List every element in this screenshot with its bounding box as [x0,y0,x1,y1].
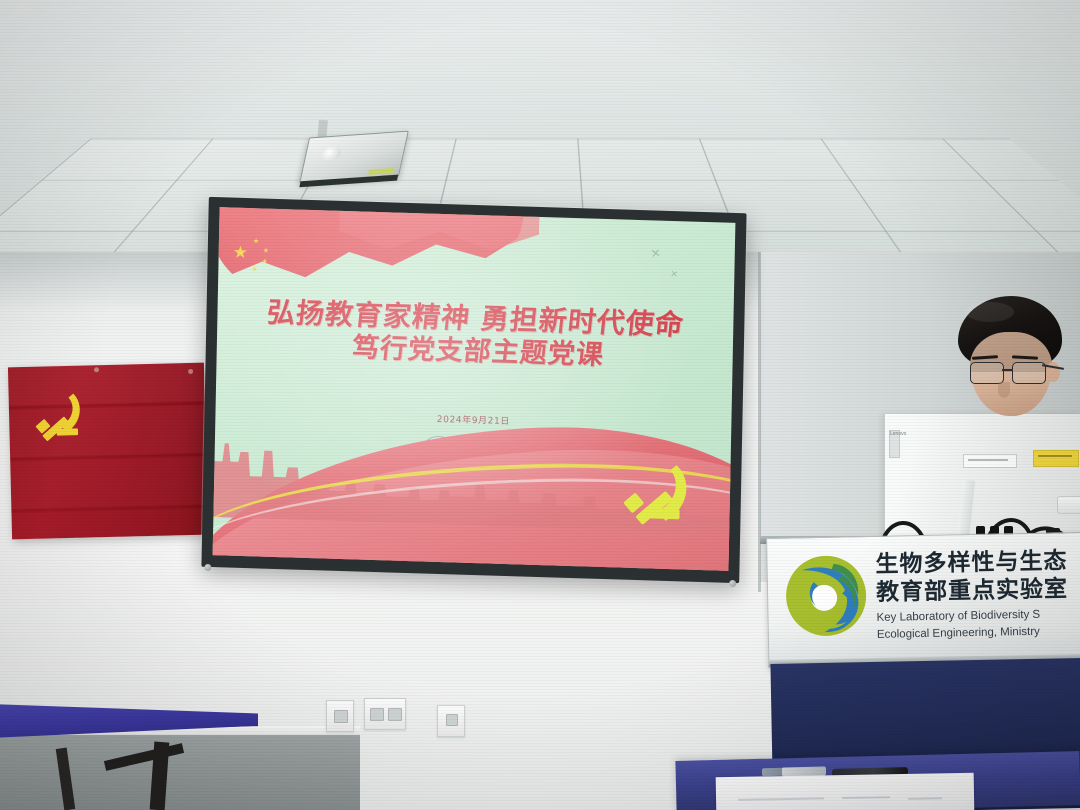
bird-icon: ✕ [650,246,662,261]
lab-name-cn-line1: 生物多样性与生态 [875,546,1080,578]
cpc-party-flag [8,363,208,540]
star-icon: ★ [253,238,259,245]
seated-operator [952,296,1068,428]
projector-label [368,168,394,175]
projection-screen[interactable]: ★ ★ ★ ★ ★ ✕ ✕ 弘扬教育家精神 勇担新时代使命 笃行党支部主题党课 … [201,197,746,583]
lens-right [1012,362,1046,384]
outlet-socket-icon [388,708,402,721]
lab-name-en-line2: Ecological Engineering, Ministry [877,623,1080,643]
glasses-icon [968,362,1052,384]
slide-title: 弘扬教育家精神 勇担新时代使命 笃行党支部主题党课 [217,295,734,376]
white-handout-sheets [716,773,975,810]
brand-tag: Lenovo [889,430,900,458]
power-outlet-plate[interactable] [326,700,354,732]
star-icon: ★ [263,247,269,254]
hammer-and-sickle-icon [30,385,93,448]
screen-mount-bolt [729,580,736,587]
star-icon: ★ [233,244,249,261]
yellow-asset-label [1033,450,1079,467]
lab-name-cn-line2: 教育部重点实验室 [876,575,1080,607]
projector-lens-icon [319,146,342,161]
glasses-bridge [1002,369,1012,371]
paper-text-line [738,797,824,801]
slide-date: 2024年9月21日 [215,405,731,434]
star-icon: ★ [261,258,267,265]
outlet-socket-icon [370,708,384,721]
bird-icon: ✕ [670,269,679,281]
outlet-socket-icon [334,710,348,723]
pen-clip [762,768,784,777]
biodiversity-lab-logo-icon [783,553,869,639]
screen-mount-bolt [204,564,211,571]
paper-text-line [842,796,890,799]
star-icon: ★ [251,266,257,273]
network-jack-plate[interactable] [437,705,465,737]
hammer-and-sickle-slide-icon [619,456,705,537]
lens-left [970,362,1004,384]
ceiling-projector-icon [299,131,409,184]
flag-pin [188,369,193,374]
lab-sign-board: 生物多样性与生态 教育部重点实验室 Key Laboratory of Biod… [766,532,1080,668]
flag-stars-group: ★ ★ ★ ★ ★ [232,238,303,280]
network-port-icon [446,714,458,726]
double-outlet-plate[interactable] [364,698,406,730]
paper-text-line [908,797,942,800]
lab-sign-text: 生物多样性与生态 教育部重点实验室 Key Laboratory of Biod… [875,546,1080,643]
nose [998,382,1010,398]
flag-pin [94,367,99,372]
projected-slide: ★ ★ ★ ★ ★ ✕ ✕ 弘扬教育家精神 勇担新时代使命 笃行党支部主题党课 … [213,207,736,571]
white-spec-label [963,454,1017,468]
photo-scene: ★ ★ ★ ★ ★ ✕ ✕ 弘扬教育家精神 勇担新时代使命 笃行党支部主题党课 … [0,0,1080,810]
